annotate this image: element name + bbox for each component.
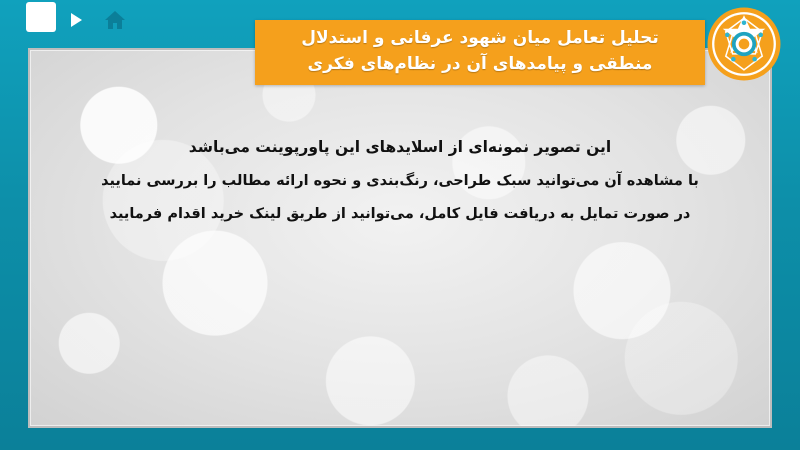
slide-root: تحلیل تعامل میان شهود عرفانی و استدلال م… [0, 0, 800, 450]
body-line-1: این تصویر نمونه‌ای از اسلایدهای این پاور… [40, 130, 760, 165]
slide-body: این تصویر نمونه‌ای از اسلایدهای این پاور… [40, 130, 760, 230]
body-line-2: با مشاهده آن می‌توانید سبک طراحی، رنگ‌بن… [40, 165, 760, 198]
islamic-star-medallion [706, 6, 782, 82]
home-icon[interactable] [102, 7, 128, 33]
title-banner: تحلیل تعامل میان شهود عرفانی و استدلال م… [255, 20, 705, 85]
content-panel [28, 48, 772, 428]
body-line-3: در صورت تمایل به دریافت فایل کامل، می‌تو… [40, 198, 760, 231]
title-line-2: منطقی و پیامدهای آن در نظام‌های فکری [273, 52, 687, 78]
navigation-controls [22, 0, 128, 40]
slide-title: تحلیل تعامل میان شهود عرفانی و استدلال م… [255, 20, 705, 85]
title-line-1: تحلیل تعامل میان شهود عرفانی و استدلال [273, 26, 687, 52]
next-triangle-icon[interactable] [62, 7, 88, 33]
previous-triangle-icon[interactable] [22, 7, 48, 33]
